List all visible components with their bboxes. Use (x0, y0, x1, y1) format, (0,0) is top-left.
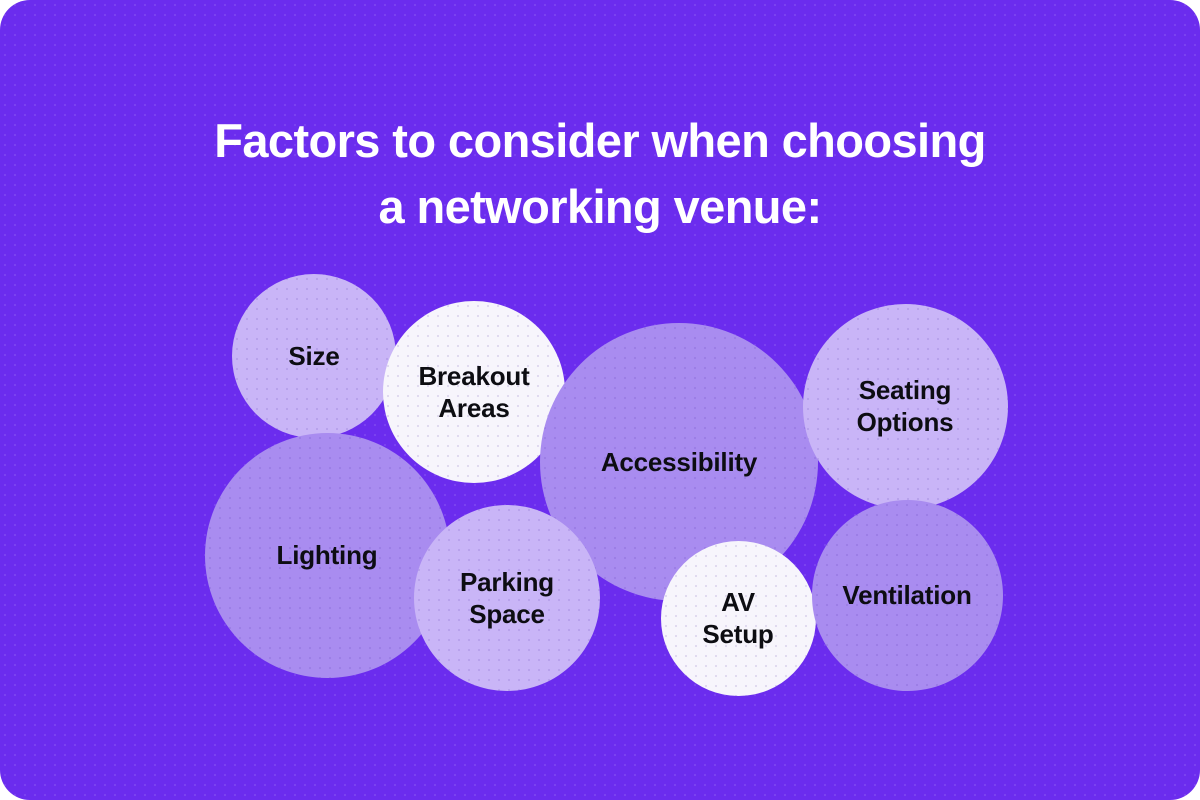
bubble-seating-options: Seating Options (803, 304, 1008, 509)
bubble-parking-space: Parking Space (414, 505, 600, 691)
bubble-label-breakout-areas: Breakout Areas (410, 360, 537, 424)
bubble-label-parking-space: Parking Space (452, 566, 562, 630)
bubble-breakout-areas: Breakout Areas (383, 301, 565, 483)
bubble-label-accessibility: Accessibility (593, 446, 765, 478)
bubble-label-av-setup: AV Setup (694, 586, 781, 650)
bubble-label-lighting: Lighting (269, 539, 386, 571)
bubble-av-setup: AV Setup (661, 541, 816, 696)
bubble-label-size: Size (280, 340, 347, 372)
bubble-label-ventilation: Ventilation (834, 579, 979, 611)
bubble-label-seating-options: Seating Options (849, 374, 962, 438)
infographic-card: Factors to consider when choosing a netw… (0, 0, 1200, 800)
bubble-cluster: SizeBreakout AreasAccessibilitySeating O… (0, 0, 1200, 800)
bubble-size: Size (232, 274, 396, 438)
bubble-ventilation: Ventilation (812, 500, 1003, 691)
bubble-lighting: Lighting (205, 433, 450, 678)
